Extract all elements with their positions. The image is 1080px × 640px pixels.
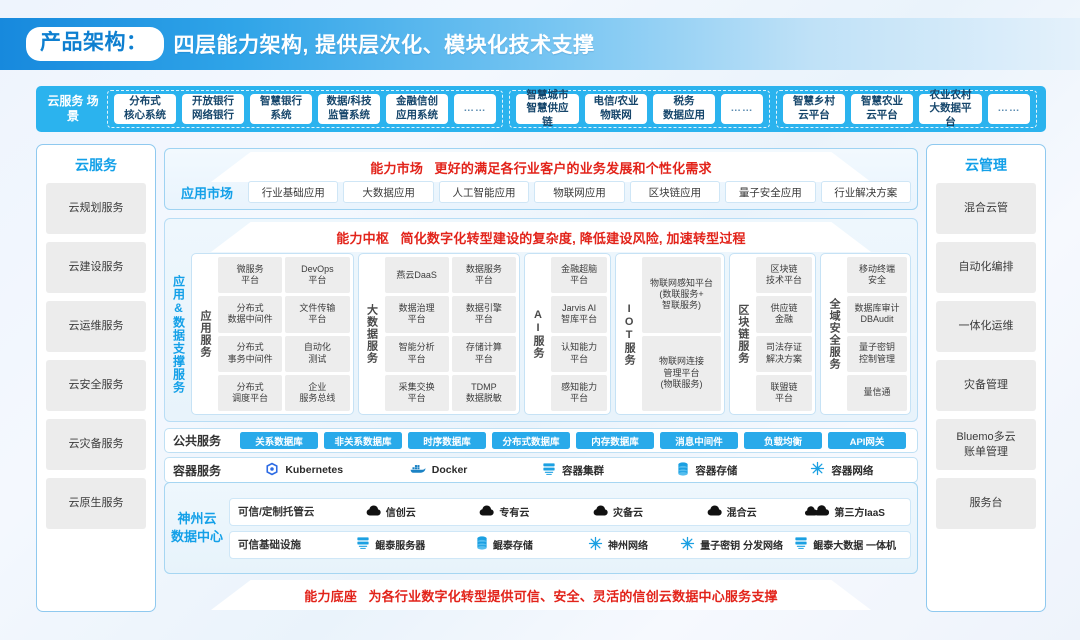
hub-cell[interactable]: 联盟链 平台 bbox=[756, 375, 812, 411]
datacenter-row-title: 可信基础设施 bbox=[238, 537, 334, 552]
hub-cell[interactable]: 数据治理 平台 bbox=[385, 296, 449, 332]
public-service-pill[interactable]: 负载均衡 bbox=[744, 432, 822, 449]
server-stack-icon bbox=[542, 462, 556, 479]
cloud-service-panel: 云服务 云规划服务云建设服务云运维服务云安全服务云灾备服务云原生服务 bbox=[36, 144, 156, 612]
hub-cell[interactable]: 企业 服务总线 bbox=[285, 375, 349, 411]
hub-cell[interactable]: 自动化 测试 bbox=[285, 336, 349, 372]
scene-box[interactable]: 税务 数据应用 bbox=[653, 94, 715, 124]
hub-cell[interactable]: 数据库审计 DBAudit bbox=[847, 296, 907, 332]
capability-foundation-banner-text: 能力底座 为各行业数字化转型提供可信、安全、灵活的信创云数据中心服务支撑 bbox=[304, 586, 777, 605]
hub-cell[interactable]: 物联网感知平台 (数联服务+ 智联服务) bbox=[642, 257, 721, 333]
application-market-item[interactable]: 行业基础应用 bbox=[248, 181, 338, 203]
capability-market-banner: 能力市场 更好的满足各行业客户的业务发展和个性化需求 bbox=[165, 152, 917, 182]
datacenter-item-label: 信创云 bbox=[386, 504, 416, 519]
capability-foundation-desc: 为各行业数字化转型提供可信、安全、灵活的信创云数据中心服务支撑 bbox=[369, 589, 778, 604]
public-service-pill[interactable]: 非关系数据库 bbox=[324, 432, 402, 449]
hub-cell[interactable]: 司法存证 解决方案 bbox=[756, 336, 812, 372]
hub-cell[interactable]: 供应链 金融 bbox=[756, 296, 812, 332]
capability-hub-banner: 能力中枢 简化数字化转型建设的复杂度, 降低建设风险, 加速转型过程 bbox=[165, 222, 917, 252]
hub-column: 物联网感知平台 (数联服务+ 智联服务)物联网连接 管理平台 (物联服务) bbox=[642, 257, 721, 411]
datacenter-row: 可信基础设施鲲泰服务器鲲泰存储神州网络量子密钥 分发网络鲲泰大数据 一体机 bbox=[229, 531, 911, 559]
public-service-pill[interactable]: 内存数据库 bbox=[576, 432, 654, 449]
hub-cell[interactable]: 认知能力 平台 bbox=[551, 336, 607, 372]
container-service-label: 容器存储 bbox=[695, 463, 737, 478]
application-market-item[interactable]: 区块链应用 bbox=[630, 181, 720, 203]
hub-group-columns: 物联网感知平台 (数联服务+ 智联服务)物联网连接 管理平台 (物联服务) bbox=[642, 257, 721, 411]
hub-column: 区块链 技术平台供应链 金融司法存证 解决方案联盟链 平台 bbox=[756, 257, 812, 411]
application-market-item[interactable]: 人工智能应用 bbox=[439, 181, 529, 203]
cloud-icon bbox=[593, 505, 608, 519]
container-service-item[interactable]: 容器集群 bbox=[506, 461, 640, 479]
sidebar-item-cloud-service[interactable]: 云运维服务 bbox=[46, 301, 146, 352]
docker-icon bbox=[410, 462, 426, 478]
hub-cell[interactable]: Jarvis AI 智库平台 bbox=[551, 296, 607, 332]
hub-cell[interactable]: 量子密钥 控制管理 bbox=[847, 336, 907, 372]
public-service-pill[interactable]: API网关 bbox=[828, 432, 906, 449]
sidebar-item-cloud-management[interactable]: 自动化编排 bbox=[936, 242, 1036, 293]
scene-box[interactable]: 金融信创 应用系统 bbox=[386, 94, 448, 124]
datacenter-item-label: 第三方IaaS bbox=[834, 504, 885, 519]
sidebar-item-cloud-service[interactable]: 云灾备服务 bbox=[46, 419, 146, 470]
datacenter-item[interactable]: 第三方IaaS bbox=[788, 504, 902, 519]
hub-group-label: AI服务 bbox=[528, 257, 548, 411]
hub-cell[interactable]: 分布式 事务中间件 bbox=[218, 336, 282, 372]
sidebar-item-cloud-service[interactable]: 云安全服务 bbox=[46, 360, 146, 411]
hub-group-columns: 微服务 平台分布式 数据中间件分布式 事务中间件分布式 调度平台DevOps 平… bbox=[218, 257, 350, 411]
header-badge: 产品架构： bbox=[26, 27, 164, 60]
hub-group-label: 全域安全服务 bbox=[824, 257, 844, 411]
hub-group-columns: 金融超脑 平台Jarvis AI 智库平台认知能力 平台感知能力 平台 bbox=[551, 257, 607, 411]
datacenter-row: 可信/定制托管云信创云专有云灾备云混合云第三方IaaS bbox=[229, 498, 911, 526]
hub-group-columns: 区块链 技术平台供应链 金融司法存证 解决方案联盟链 平台 bbox=[756, 257, 812, 411]
server-stack-icon bbox=[794, 536, 808, 553]
container-service-label: Kubernetes bbox=[285, 464, 343, 476]
scene-group-2: 智慧城市 智慧供应链电信/农业 物联网税务 数据应用…… bbox=[509, 90, 770, 128]
public-service-pill[interactable]: 关系数据库 bbox=[240, 432, 318, 449]
hub-cell[interactable]: TDMP 数据脱敏 bbox=[452, 375, 516, 411]
scene-box[interactable]: …… bbox=[721, 94, 763, 124]
capability-market-banner-text: 能力市场 更好的满足各行业客户的业务发展和个性化需求 bbox=[370, 158, 711, 177]
datacenter-item-label: 专有云 bbox=[499, 504, 529, 519]
datacenter-item[interactable]: 混合云 bbox=[675, 504, 789, 519]
network-icon bbox=[680, 536, 695, 554]
hub-group: 应用服务微服务 平台分布式 数据中间件分布式 事务中间件分布式 调度平台DevO… bbox=[191, 253, 354, 415]
hub-cell[interactable]: 智能分析 平台 bbox=[385, 336, 449, 372]
scene-box[interactable]: 智慧乡村 云平台 bbox=[783, 94, 845, 124]
datacenter-item[interactable]: 信创云 bbox=[334, 504, 448, 519]
public-services-label: 公共服务 bbox=[173, 432, 237, 449]
application-market-label: 应用市场 bbox=[171, 183, 243, 202]
container-service-item[interactable]: Kubernetes bbox=[237, 461, 371, 479]
scene-box[interactable]: …… bbox=[988, 94, 1030, 124]
hub-column: 移动终端 安全数据库审计 DBAudit量子密钥 控制管理量信通 bbox=[847, 257, 907, 411]
scene-box[interactable]: 分布式 核心系统 bbox=[114, 94, 176, 124]
capability-market-block: 能力市场 更好的满足各行业客户的业务发展和个性化需求 应用市场 行业基础应用大数… bbox=[164, 148, 918, 210]
hub-group: IOT服务物联网感知平台 (数联服务+ 智联服务)物联网连接 管理平台 (物联服… bbox=[615, 253, 725, 415]
public-service-pill[interactable]: 消息中间件 bbox=[660, 432, 738, 449]
cloud-scenes-bar: 云服务 场景 分布式 核心系统开放银行 网络银行智慧银行 系统数据/科技 监管系… bbox=[36, 86, 1046, 132]
server-stack-icon bbox=[356, 536, 370, 553]
hub-cell[interactable]: DevOps 平台 bbox=[285, 257, 349, 293]
datacenter-item-label: 鲲泰存储 bbox=[493, 537, 533, 552]
hub-cell[interactable]: 存储计算 平台 bbox=[452, 336, 516, 372]
public-service-pill[interactable]: 分布式数据库 bbox=[492, 432, 570, 449]
sidebar-item-cloud-service[interactable]: 云规划服务 bbox=[46, 183, 146, 234]
scene-box[interactable]: 开放银行 网络银行 bbox=[182, 94, 244, 124]
center-column: 能力市场 更好的满足各行业客户的业务发展和个性化需求 应用市场 行业基础应用大数… bbox=[164, 144, 918, 612]
public-service-pill[interactable]: 时序数据库 bbox=[408, 432, 486, 449]
hub-cell[interactable]: 移动终端 安全 bbox=[847, 257, 907, 293]
capability-hub-block: 能力中枢 简化数字化转型建设的复杂度, 降低建设风险, 加速转型过程 应用&数据… bbox=[164, 218, 918, 422]
datacenter-row-title: 可信/定制托管云 bbox=[238, 504, 334, 519]
network-icon bbox=[810, 461, 825, 479]
network-icon bbox=[588, 536, 603, 554]
hub-cell[interactable]: 区块链 技术平台 bbox=[756, 257, 812, 293]
hub-column: 数据服务 平台数据引擎 平台存储计算 平台TDMP 数据脱敏 bbox=[452, 257, 516, 411]
container-service-item[interactable]: 容器网络 bbox=[775, 461, 909, 479]
container-service-label: Docker bbox=[432, 464, 468, 476]
hub-group: 区块链服务区块链 技术平台供应链 金融司法存证 解决方案联盟链 平台 bbox=[729, 253, 816, 415]
hub-cell[interactable]: 采集交换 平台 bbox=[385, 375, 449, 411]
container-services-label: 容器服务 bbox=[173, 462, 237, 479]
datacenter-item[interactable]: 鲲泰存储 bbox=[448, 536, 562, 553]
container-service-item[interactable]: 容器存储 bbox=[640, 461, 774, 479]
scene-box[interactable]: 电信/农业 物联网 bbox=[585, 94, 647, 124]
datacenter-block: 神州云 数据中心 可信/定制托管云信创云专有云灾备云混合云第三方IaaS可信基础… bbox=[164, 482, 918, 574]
cloud-icon bbox=[366, 505, 381, 519]
application-market-row: 应用市场 行业基础应用大数据应用人工智能应用物联网应用区块链应用量子安全应用行业… bbox=[171, 180, 911, 204]
scene-box[interactable]: …… bbox=[454, 94, 496, 124]
sidebar-item-cloud-service[interactable]: 云建设服务 bbox=[46, 242, 146, 293]
datacenter-item[interactable]: 灾备云 bbox=[561, 504, 675, 519]
application-market-item[interactable]: 大数据应用 bbox=[343, 181, 433, 203]
sidebar-item-cloud-management[interactable]: 一体化运维 bbox=[936, 301, 1036, 352]
cloud-service-panel-title: 云服务 bbox=[75, 155, 117, 175]
hub-group-label: 大数据服务 bbox=[362, 257, 382, 411]
hub-cell[interactable]: 分布式 数据中间件 bbox=[218, 296, 282, 332]
datacenter-item[interactable]: 神州网络 bbox=[561, 536, 675, 554]
container-service-item[interactable]: Docker bbox=[371, 461, 505, 479]
hub-cell[interactable]: 物联网连接 管理平台 (物联服务) bbox=[642, 336, 721, 412]
scene-group-3: 智慧乡村 云平台智慧农业 云平台农业农村 大数据平台…… bbox=[776, 90, 1037, 128]
header-subtitle: 四层能力架构, 提供层次化、模块化技术支撑 bbox=[174, 29, 595, 59]
hub-column: 金融超脑 平台Jarvis AI 智库平台认知能力 平台感知能力 平台 bbox=[551, 257, 607, 411]
datacenter-item-label: 神州网络 bbox=[608, 537, 648, 552]
hub-group-columns: 移动终端 安全数据库审计 DBAudit量子密钥 控制管理量信通 bbox=[847, 257, 907, 411]
capability-hub-title: 能力中枢 bbox=[336, 231, 389, 246]
multi-cloud-icon bbox=[805, 505, 829, 519]
container-services-row: 容器服务 KubernetesDocker容器集群容器存储容器网络 bbox=[164, 457, 918, 483]
container-service-label: 容器网络 bbox=[831, 463, 873, 478]
datacenter-item-label: 量子密钥 分发网络 bbox=[700, 537, 783, 552]
application-market-item[interactable]: 量子安全应用 bbox=[725, 181, 815, 203]
hub-group: AI服务金融超脑 平台Jarvis AI 智库平台认知能力 平台感知能力 平台 bbox=[524, 253, 611, 415]
public-services-row: 公共服务 关系数据库非关系数据库时序数据库分布式数据库内存数据库消息中间件负载均… bbox=[164, 428, 918, 453]
cloud-management-panel-title: 云管理 bbox=[965, 155, 1007, 175]
sidebar-item-cloud-service[interactable]: 云原生服务 bbox=[46, 478, 146, 529]
scene-box[interactable]: 数据/科技 监管系统 bbox=[318, 94, 380, 124]
hub-group: 全域安全服务移动终端 安全数据库审计 DBAudit量子密钥 控制管理量信通 bbox=[820, 253, 911, 415]
hub-cell[interactable]: 分布式 调度平台 bbox=[218, 375, 282, 411]
hub-cell[interactable]: 金融超脑 平台 bbox=[551, 257, 607, 293]
datacenter-item[interactable]: 鲲泰服务器 bbox=[334, 536, 448, 553]
hub-group-label: 应用服务 bbox=[195, 257, 215, 411]
hub-column: DevOps 平台文件传输 平台自动化 测试企业 服务总线 bbox=[285, 257, 349, 411]
page-header: 产品架构： 四层能力架构, 提供层次化、模块化技术支撑 bbox=[0, 18, 1080, 70]
datacenter-item-label: 混合云 bbox=[727, 504, 757, 519]
sidebar-item-cloud-management[interactable]: 混合云管 bbox=[936, 183, 1036, 234]
datacenter-item[interactable]: 量子密钥 分发网络 bbox=[675, 536, 789, 554]
hub-group-label: IOT服务 bbox=[619, 257, 639, 411]
scene-box[interactable]: 智慧城市 智慧供应链 bbox=[516, 94, 579, 124]
scene-group-1: 分布式 核心系统开放银行 网络银行智慧银行 系统数据/科技 监管系统金融信创 应… bbox=[107, 90, 503, 128]
database-icon bbox=[677, 462, 689, 479]
main-canvas: 云服务 云规划服务云建设服务云运维服务云安全服务云灾备服务云原生服务 云管理 混… bbox=[36, 144, 1046, 612]
hub-group-columns: 燕云DaaS数据治理 平台智能分析 平台采集交换 平台数据服务 平台数据引擎 平… bbox=[385, 257, 517, 411]
hub-group: 大数据服务燕云DaaS数据治理 平台智能分析 平台采集交换 平台数据服务 平台数… bbox=[358, 253, 521, 415]
scene-box[interactable]: 智慧农业 云平台 bbox=[851, 94, 913, 124]
hub-cell[interactable]: 数据引擎 平台 bbox=[452, 296, 516, 332]
architecture-diagram: 产品架构： 四层能力架构, 提供层次化、模块化技术支撑 云服务 场景 分布式 核… bbox=[0, 0, 1080, 640]
sidebar-item-cloud-management[interactable]: 服务台 bbox=[936, 478, 1036, 529]
hub-column: 微服务 平台分布式 数据中间件分布式 事务中间件分布式 调度平台 bbox=[218, 257, 282, 411]
hub-group-label: 区块链服务 bbox=[733, 257, 753, 411]
hub-cell[interactable]: 微服务 平台 bbox=[218, 257, 282, 293]
sidebar-item-cloud-management[interactable]: Bluemo多云 账单管理 bbox=[936, 419, 1036, 470]
database-icon bbox=[476, 536, 488, 553]
capability-market-desc: 更好的满足各行业客户的业务发展和个性化需求 bbox=[435, 161, 712, 176]
datacenter-label: 神州云 数据中心 bbox=[165, 510, 229, 545]
datacenter-item-label: 灾备云 bbox=[613, 504, 643, 519]
cloud-management-panel: 云管理 混合云管自动化编排一体化运维灾备管理Bluemo多云 账单管理服务台 bbox=[926, 144, 1046, 612]
app-data-support-label: 应用&数据支撑服务 bbox=[169, 253, 189, 415]
hub-cell[interactable]: 文件传输 平台 bbox=[285, 296, 349, 332]
capability-hub-desc: 简化数字化转型建设的复杂度, 降低建设风险, 加速转型过程 bbox=[401, 231, 746, 246]
hub-cell[interactable]: 燕云DaaS bbox=[385, 257, 449, 293]
capability-hub-banner-text: 能力中枢 简化数字化转型建设的复杂度, 降低建设风险, 加速转型过程 bbox=[336, 228, 746, 247]
container-service-label: 容器集群 bbox=[562, 463, 604, 478]
hub-cell[interactable]: 量信通 bbox=[847, 375, 907, 411]
capability-market-title: 能力市场 bbox=[370, 161, 423, 176]
hub-column: 燕云DaaS数据治理 平台智能分析 平台采集交换 平台 bbox=[385, 257, 449, 411]
capability-foundation-banner: 能力底座 为各行业数字化转型提供可信、安全、灵活的信创云数据中心服务支撑 bbox=[164, 580, 918, 610]
hub-cell[interactable]: 数据服务 平台 bbox=[452, 257, 516, 293]
application-market-item[interactable]: 物联网应用 bbox=[534, 181, 624, 203]
cloud-icon bbox=[479, 505, 494, 519]
application-market-item[interactable]: 行业解决方案 bbox=[821, 181, 911, 203]
cloud-scenes-label: 云服务 场景 bbox=[42, 94, 104, 124]
datacenter-item-label: 鲲泰大数据 一体机 bbox=[813, 537, 896, 552]
datacenter-item-label: 鲲泰服务器 bbox=[375, 537, 425, 552]
sidebar-item-cloud-management[interactable]: 灾备管理 bbox=[936, 360, 1036, 411]
datacenter-item[interactable]: 专有云 bbox=[448, 504, 562, 519]
hub-cell[interactable]: 感知能力 平台 bbox=[551, 375, 607, 411]
cloud-icon bbox=[707, 505, 722, 519]
capability-foundation-title: 能力底座 bbox=[304, 589, 357, 604]
scene-box[interactable]: 智慧银行 系统 bbox=[250, 94, 312, 124]
kubernetes-icon bbox=[265, 462, 279, 479]
scene-box[interactable]: 农业农村 大数据平台 bbox=[919, 94, 982, 124]
datacenter-item[interactable]: 鲲泰大数据 一体机 bbox=[788, 536, 902, 553]
